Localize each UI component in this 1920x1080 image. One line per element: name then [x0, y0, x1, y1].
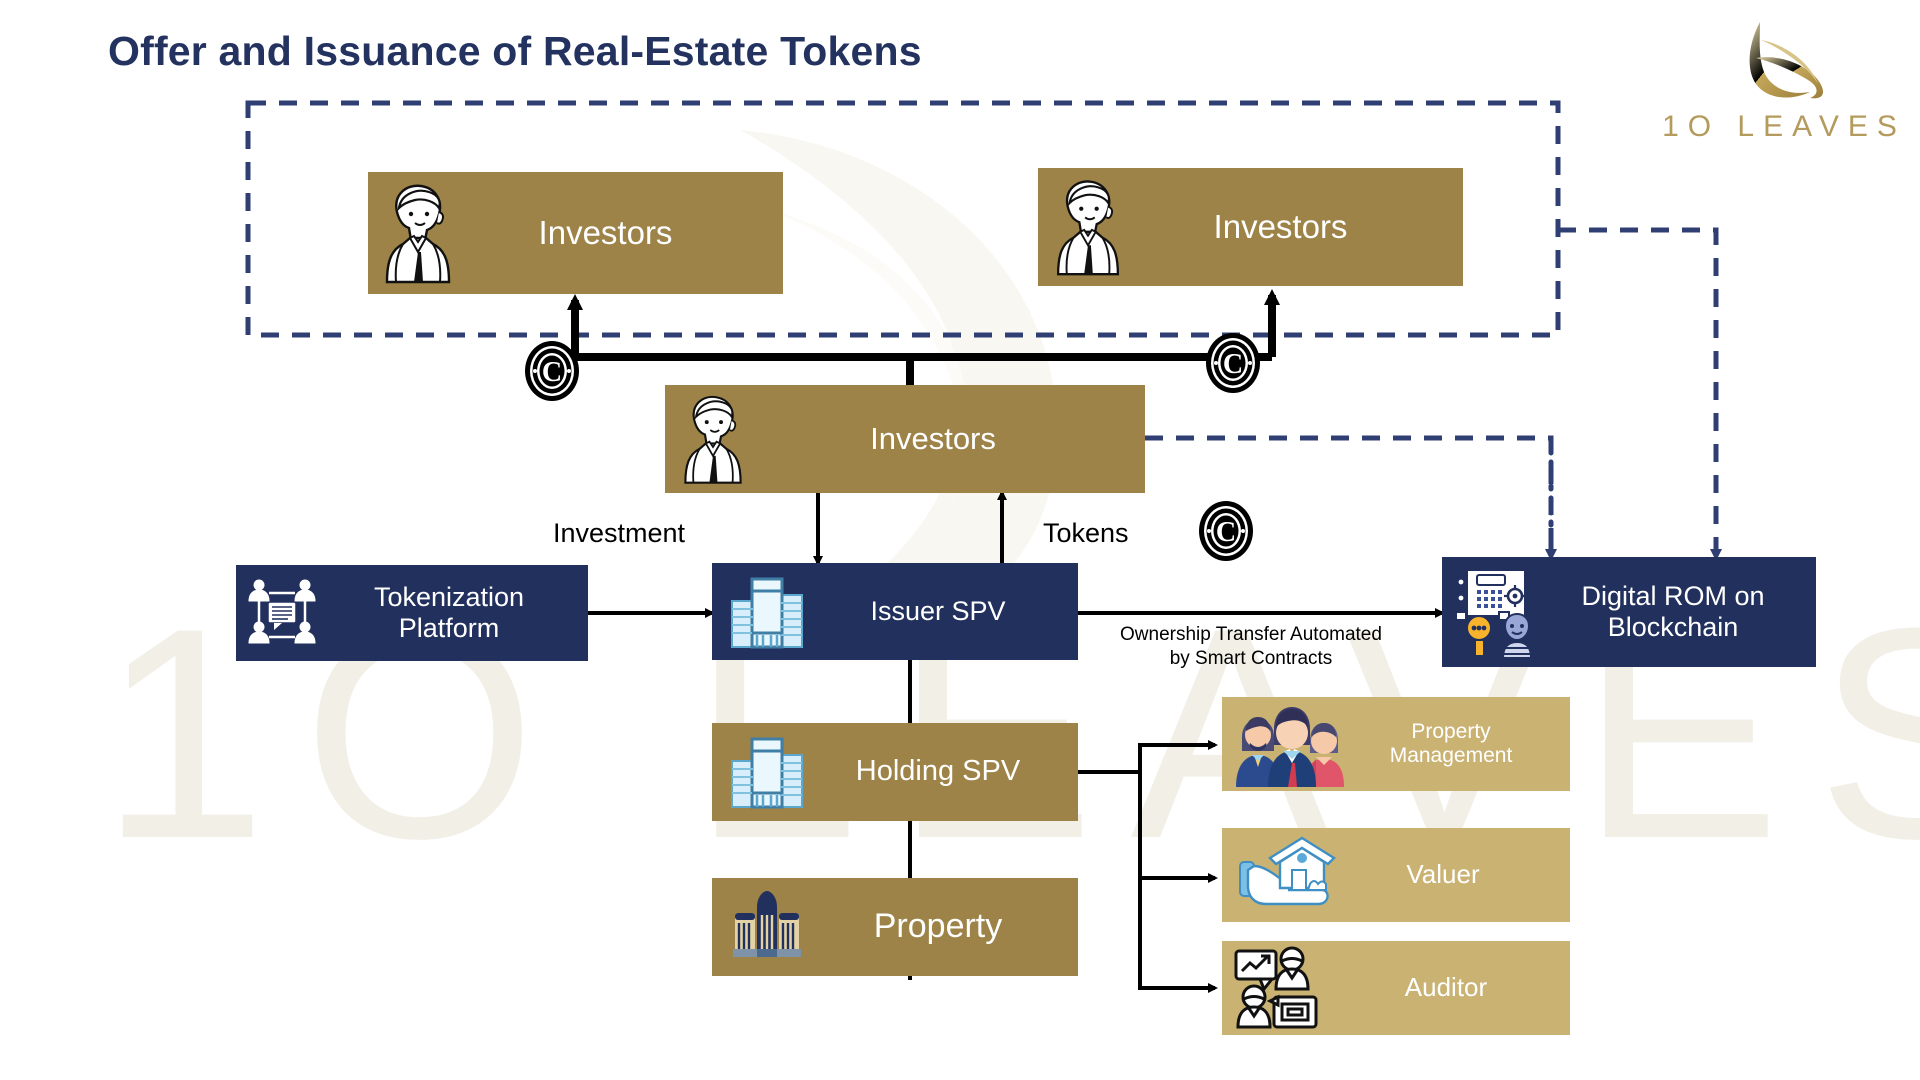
brand-logo: 1O LEAVES [1660, 14, 1908, 146]
svg-text:C: C [542, 357, 562, 388]
node-label: Digital ROM on Blockchain [1550, 581, 1816, 643]
edge-label-ownership-transfer: Ownership Transfer Automated by Smart Co… [1096, 623, 1406, 671]
node-auditor[interactable]: Auditor [1222, 941, 1570, 1035]
node-issuer-spv[interactable]: Issuer SPV [712, 563, 1078, 660]
office-building-icon [712, 731, 822, 813]
node-label: Property [822, 907, 1078, 946]
edge-label-investment: Investment [553, 518, 685, 549]
node-investors-top-left[interactable]: Investors [368, 172, 783, 294]
three-people-icon [1222, 701, 1362, 787]
svg-text:C: C [1216, 517, 1236, 548]
page-title: Offer and Issuance of Real-Estate Tokens [108, 28, 922, 75]
node-investors-center[interactable]: Investors [665, 385, 1145, 493]
investor-person-icon [1038, 174, 1138, 280]
blockchain-key-icon [1442, 566, 1550, 658]
logo-wordmark: 1O LEAVES [1660, 110, 1908, 144]
investor-person-icon [665, 390, 761, 488]
node-digital-rom-blockchain[interactable]: Digital ROM on Blockchain [1442, 557, 1816, 667]
edge-label-tokens: Tokens [1043, 518, 1129, 549]
node-investors-top-right[interactable]: Investors [1038, 168, 1463, 286]
leaf-icon [1660, 14, 1908, 110]
token-coin-left-icon: C [524, 340, 580, 402]
node-label: Investors [468, 214, 783, 252]
office-building-icon [712, 571, 822, 653]
node-label: Valuer [1362, 860, 1570, 890]
svg-text:C: C [1223, 349, 1243, 380]
diagram-canvas: 1O LEAVES Offer and Issuance of Real-Est… [0, 0, 1920, 1080]
node-holding-spv[interactable]: Holding SPV [712, 723, 1078, 821]
node-tokenization-platform[interactable]: Tokenization Platform [236, 565, 588, 661]
node-label: Issuer SPV [822, 596, 1078, 627]
node-valuer[interactable]: Valuer [1222, 828, 1570, 922]
audit-people-icon [1222, 945, 1362, 1031]
investor-person-icon [368, 178, 468, 288]
token-coin-center-icon: C [1198, 500, 1254, 562]
node-label: Auditor [1362, 973, 1570, 1003]
hand-house-icon [1222, 832, 1362, 918]
node-label: Investors [761, 421, 1145, 457]
network-people-icon [236, 575, 328, 651]
classical-building-icon [712, 889, 822, 965]
node-property-management[interactable]: Property Management [1222, 697, 1570, 791]
node-property[interactable]: Property [712, 878, 1078, 976]
token-coin-right-icon: C [1205, 332, 1261, 394]
node-label: Tokenization Platform [328, 582, 588, 644]
node-label: Holding SPV [822, 755, 1078, 788]
node-label: Investors [1138, 208, 1463, 246]
node-label: Property Management [1362, 720, 1570, 768]
registry-dashed-connector [1558, 230, 1716, 557]
